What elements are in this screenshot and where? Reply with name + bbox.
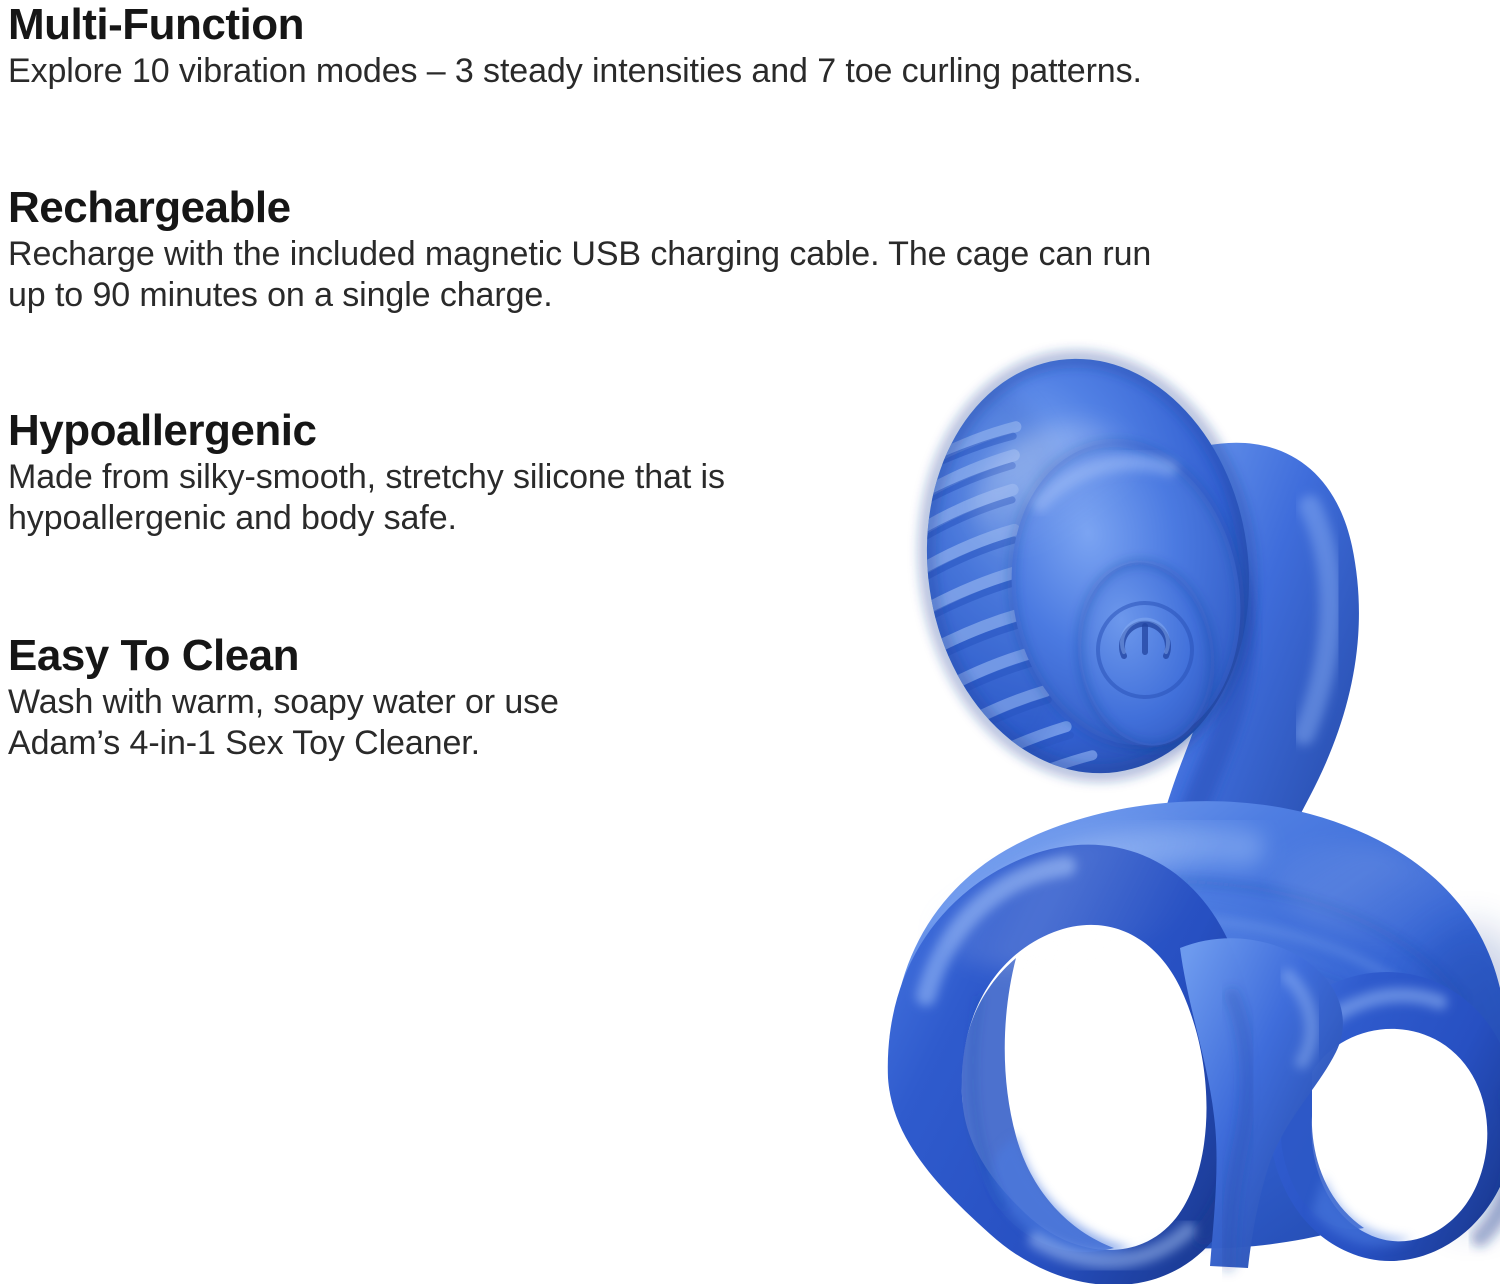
feature-body-line: up to 90 minutes on a single charge. [8, 275, 1388, 316]
product-illustration [840, 336, 1500, 1284]
feature-body-line: hypoallergenic and body safe. [8, 498, 908, 539]
feature-body-line: Adam’s 4-in-1 Sex Toy Cleaner. [8, 723, 768, 764]
feature-title-easy-to-clean: Easy To Clean [8, 633, 768, 680]
feature-body-line: Explore 10 vibration modes – 3 steady in… [8, 51, 1398, 92]
feature-body-line: Wash with warm, soapy water or use [8, 682, 768, 723]
feature-easy-to-clean: Easy To Clean Wash with warm, soapy wate… [8, 633, 768, 765]
feature-multi-function: Multi-Function Explore 10 vibration mode… [8, 2, 1398, 92]
feature-hypoallergenic: Hypoallergenic Made from silky-smooth, s… [8, 408, 908, 540]
product-image [840, 336, 1500, 1284]
product-feature-panel: Multi-Function Explore 10 vibration mode… [0, 0, 1500, 1284]
feature-body-multi-function: Explore 10 vibration modes – 3 steady in… [8, 51, 1398, 92]
feature-body-rechargeable: Recharge with the included magnetic USB … [8, 234, 1388, 317]
feature-body-line: Recharge with the included magnetic USB … [8, 234, 1388, 275]
feature-body-easy-to-clean: Wash with warm, soapy water or use Adam’… [8, 682, 768, 765]
feature-title-rechargeable: Rechargeable [8, 185, 1388, 232]
feature-title-hypoallergenic: Hypoallergenic [8, 408, 908, 455]
feature-title-multi-function: Multi-Function [8, 2, 1398, 49]
feature-body-hypoallergenic: Made from silky-smooth, stretchy silicon… [8, 457, 908, 540]
feature-rechargeable: Rechargeable Recharge with the included … [8, 185, 1388, 317]
feature-body-line: Made from silky-smooth, stretchy silicon… [8, 457, 908, 498]
